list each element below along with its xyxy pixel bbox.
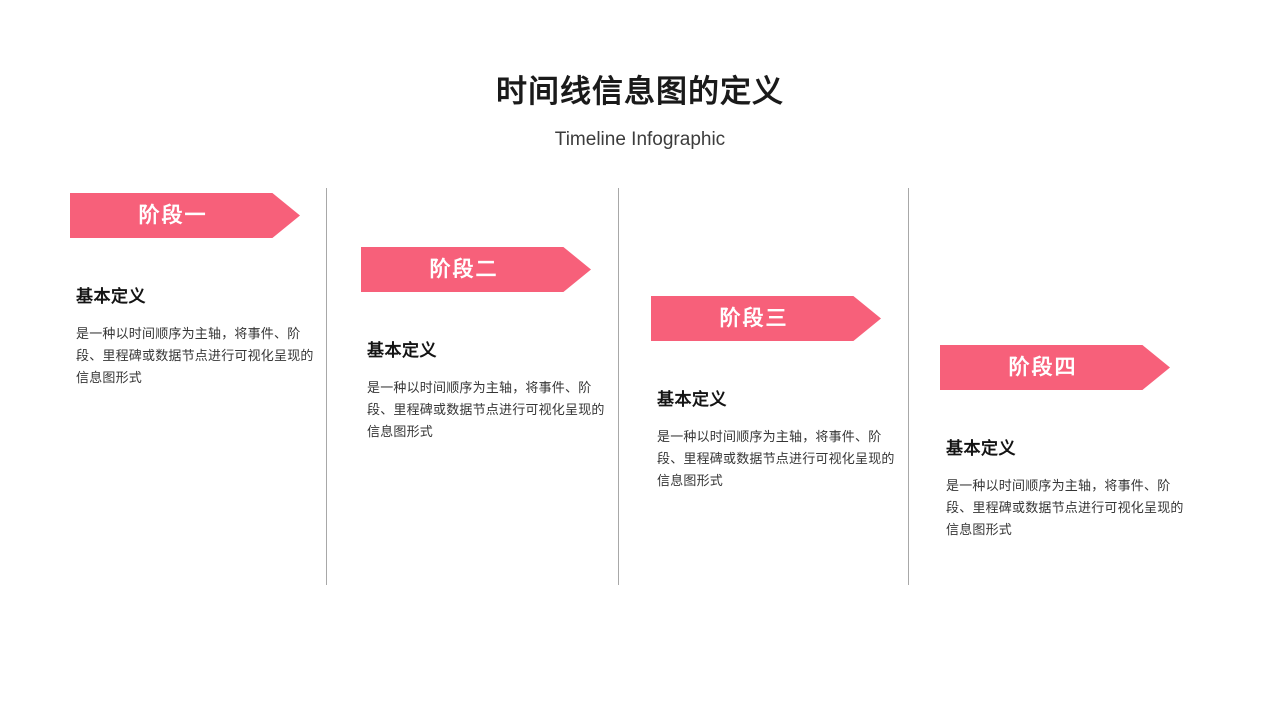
- stage-3-body: 基本定义 是一种以时间顺序为主轴，将事件、阶段、里程碑或数据节点进行可视化呈现的…: [657, 389, 897, 492]
- stage-3-banner-label: 阶段三: [720, 308, 789, 329]
- stage-4-banner: 阶段四: [940, 345, 1170, 390]
- stage-2-heading: 基本定义: [367, 340, 607, 362]
- page-title: 时间线信息图的定义: [0, 74, 1280, 110]
- slide-canvas: 时间线信息图的定义 Timeline Infographic 阶段一 基本定义 …: [0, 0, 1280, 720]
- stage-4-banner-label: 阶段四: [1009, 357, 1078, 378]
- timeline-stage-4: 阶段四 基本定义 是一种以时间顺序为主轴，将事件、阶段、里程碑或数据节点进行可视…: [940, 345, 1170, 390]
- stage-4-heading: 基本定义: [946, 438, 1186, 460]
- stage-3-heading: 基本定义: [657, 389, 897, 411]
- stage-2-banner-label: 阶段二: [430, 259, 499, 280]
- timeline-divider-2: [618, 188, 619, 585]
- stage-2-banner: 阶段二: [361, 247, 591, 292]
- stage-4-body: 基本定义 是一种以时间顺序为主轴，将事件、阶段、里程碑或数据节点进行可视化呈现的…: [946, 438, 1186, 541]
- stage-1-banner-label: 阶段一: [139, 205, 208, 226]
- stage-4-description: 是一种以时间顺序为主轴，将事件、阶段、里程碑或数据节点进行可视化呈现的信息图形式: [946, 475, 1186, 541]
- timeline-stage-1: 阶段一 基本定义 是一种以时间顺序为主轴，将事件、阶段、里程碑或数据节点进行可视…: [70, 193, 300, 238]
- stage-2-body: 基本定义 是一种以时间顺序为主轴，将事件、阶段、里程碑或数据节点进行可视化呈现的…: [367, 340, 607, 443]
- stage-1-banner: 阶段一: [70, 193, 300, 238]
- timeline-divider-1: [326, 188, 327, 585]
- stage-1-description: 是一种以时间顺序为主轴，将事件、阶段、里程碑或数据节点进行可视化呈现的信息图形式: [76, 323, 316, 389]
- stage-3-description: 是一种以时间顺序为主轴，将事件、阶段、里程碑或数据节点进行可视化呈现的信息图形式: [657, 426, 897, 492]
- page-subtitle: Timeline Infographic: [0, 128, 1280, 152]
- timeline-divider-3: [908, 188, 909, 585]
- timeline-stage-3: 阶段三 基本定义 是一种以时间顺序为主轴，将事件、阶段、里程碑或数据节点进行可视…: [651, 296, 881, 341]
- stage-2-description: 是一种以时间顺序为主轴，将事件、阶段、里程碑或数据节点进行可视化呈现的信息图形式: [367, 377, 607, 443]
- stage-1-body: 基本定义 是一种以时间顺序为主轴，将事件、阶段、里程碑或数据节点进行可视化呈现的…: [76, 286, 316, 389]
- stage-3-banner: 阶段三: [651, 296, 881, 341]
- timeline-stage-2: 阶段二 基本定义 是一种以时间顺序为主轴，将事件、阶段、里程碑或数据节点进行可视…: [361, 247, 591, 292]
- stage-1-heading: 基本定义: [76, 286, 316, 308]
